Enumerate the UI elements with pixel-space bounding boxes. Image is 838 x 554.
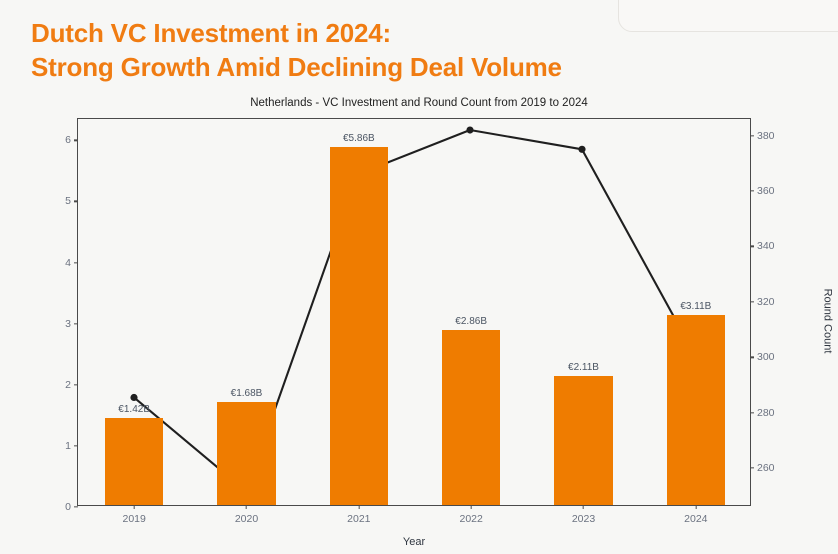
plot-inner: €1.42B€1.68B€5.86B€2.86B€2.11B€3.11B0123… bbox=[78, 119, 750, 505]
y-axis-right-tick-260: 260 bbox=[750, 462, 775, 474]
plot-area: €1.42B€1.68B€5.86B€2.86B€2.11B€3.11B0123… bbox=[77, 118, 751, 506]
headline-line-1: Dutch VC Investment in 2024: bbox=[31, 18, 391, 48]
bar-2021[interactable] bbox=[330, 147, 388, 505]
bar-2024[interactable] bbox=[667, 315, 725, 505]
chart-container: Netherlands - VC Investment and Round Co… bbox=[0, 88, 838, 554]
y-axis-left-tick-2: 2 bbox=[65, 379, 78, 391]
bar-value-label-2021: €5.86B bbox=[343, 133, 375, 144]
y-axis-right-tick-280: 280 bbox=[750, 407, 775, 419]
bar-value-label-2023: €2.11B bbox=[568, 362, 599, 373]
chart-title: Netherlands - VC Investment and Round Co… bbox=[0, 97, 838, 109]
y-axis-left-tick-1: 1 bbox=[65, 440, 78, 452]
line-point-2019[interactable] bbox=[130, 394, 137, 401]
x-axis-tick-2021: 2021 bbox=[347, 505, 370, 525]
y-axis-right-tick-380: 380 bbox=[750, 130, 775, 142]
y-axis-left-tick-6: 6 bbox=[65, 134, 78, 146]
x-axis-tick-2023: 2023 bbox=[572, 505, 595, 525]
bar-2023[interactable] bbox=[554, 376, 612, 505]
y-axis-left-tick-5: 5 bbox=[65, 195, 78, 207]
bar-2020[interactable] bbox=[217, 402, 275, 505]
bar-2019[interactable] bbox=[105, 418, 163, 505]
y-axis-left-tick-4: 4 bbox=[65, 257, 78, 269]
x-axis-tick-2024: 2024 bbox=[684, 505, 707, 525]
round-count-line-series bbox=[78, 119, 750, 505]
bar-value-label-2019: €1.42B bbox=[118, 404, 150, 415]
bar-2022[interactable] bbox=[442, 330, 500, 505]
bar-value-label-2024: €3.11B bbox=[680, 301, 711, 312]
bar-value-label-2020: €1.68B bbox=[231, 388, 263, 399]
y-axis-left-tick-3: 3 bbox=[65, 318, 78, 330]
y-axis-right-tick-340: 340 bbox=[750, 240, 775, 252]
bar-value-label-2022: €2.86B bbox=[455, 316, 487, 327]
x-axis-label: Year bbox=[77, 536, 751, 548]
x-axis-tick-2022: 2022 bbox=[459, 505, 482, 525]
line-point-2023[interactable] bbox=[578, 146, 585, 153]
headline-line-2: Strong Growth Amid Declining Deal Volume bbox=[31, 50, 791, 84]
y-axis-right-label: Round Count bbox=[821, 289, 833, 354]
line-point-2022[interactable] bbox=[466, 126, 473, 133]
y-axis-left-tick-0: 0 bbox=[65, 501, 78, 513]
page-title: Dutch VC Investment in 2024: Strong Grow… bbox=[31, 16, 791, 84]
x-axis-tick-2020: 2020 bbox=[235, 505, 258, 525]
y-axis-right-tick-300: 300 bbox=[750, 351, 775, 363]
x-axis-tick-2019: 2019 bbox=[122, 505, 145, 525]
y-axis-right-tick-320: 320 bbox=[750, 296, 775, 308]
y-axis-right-tick-360: 360 bbox=[750, 185, 775, 197]
